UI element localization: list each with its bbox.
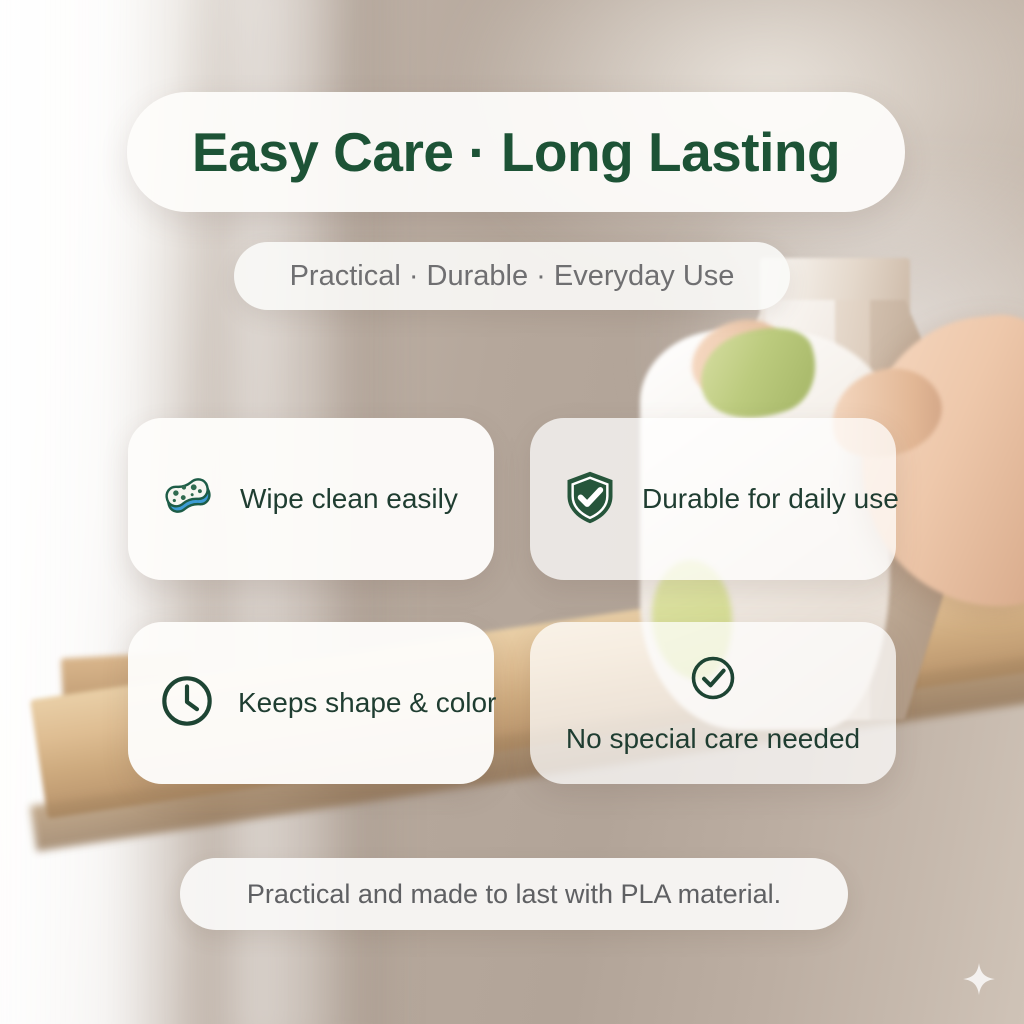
feature-card-label: No special care needed xyxy=(566,723,860,755)
feature-grid: Wipe clean easily Durable for daily use xyxy=(128,418,896,784)
feature-card-label: Durable for daily use xyxy=(642,483,899,515)
content-overlay: Easy Care · Long Lasting Practical · Dur… xyxy=(0,0,1024,1024)
footer-text: Practical and made to last with PLA mate… xyxy=(247,879,781,910)
check-circle-icon xyxy=(687,652,739,709)
feature-card-durable[interactable]: Durable for daily use xyxy=(530,418,896,580)
feature-card-no-special-care[interactable]: No special care needed xyxy=(530,622,896,784)
poster-canvas: Easy Care · Long Lasting Practical · Dur… xyxy=(0,0,1024,1024)
feature-card-wipe-clean[interactable]: Wipe clean easily xyxy=(128,418,494,580)
page-subtitle: Practical · Durable · Everyday Use xyxy=(290,260,735,293)
sparkle-icon xyxy=(962,962,996,996)
feature-card-label: Keeps shape & color xyxy=(238,687,496,719)
page-title: Easy Care · Long Lasting xyxy=(192,120,840,184)
footer-pill: Practical and made to last with PLA mate… xyxy=(180,858,848,930)
feature-card-keeps-shape[interactable]: Keeps shape & color xyxy=(128,622,494,784)
sponge-icon xyxy=(158,467,218,532)
subtitle-pill: Practical · Durable · Everyday Use xyxy=(234,242,790,310)
clock-icon xyxy=(158,672,216,735)
shield-check-icon xyxy=(560,467,620,532)
title-pill: Easy Care · Long Lasting xyxy=(127,92,905,212)
feature-card-label: Wipe clean easily xyxy=(240,483,458,515)
